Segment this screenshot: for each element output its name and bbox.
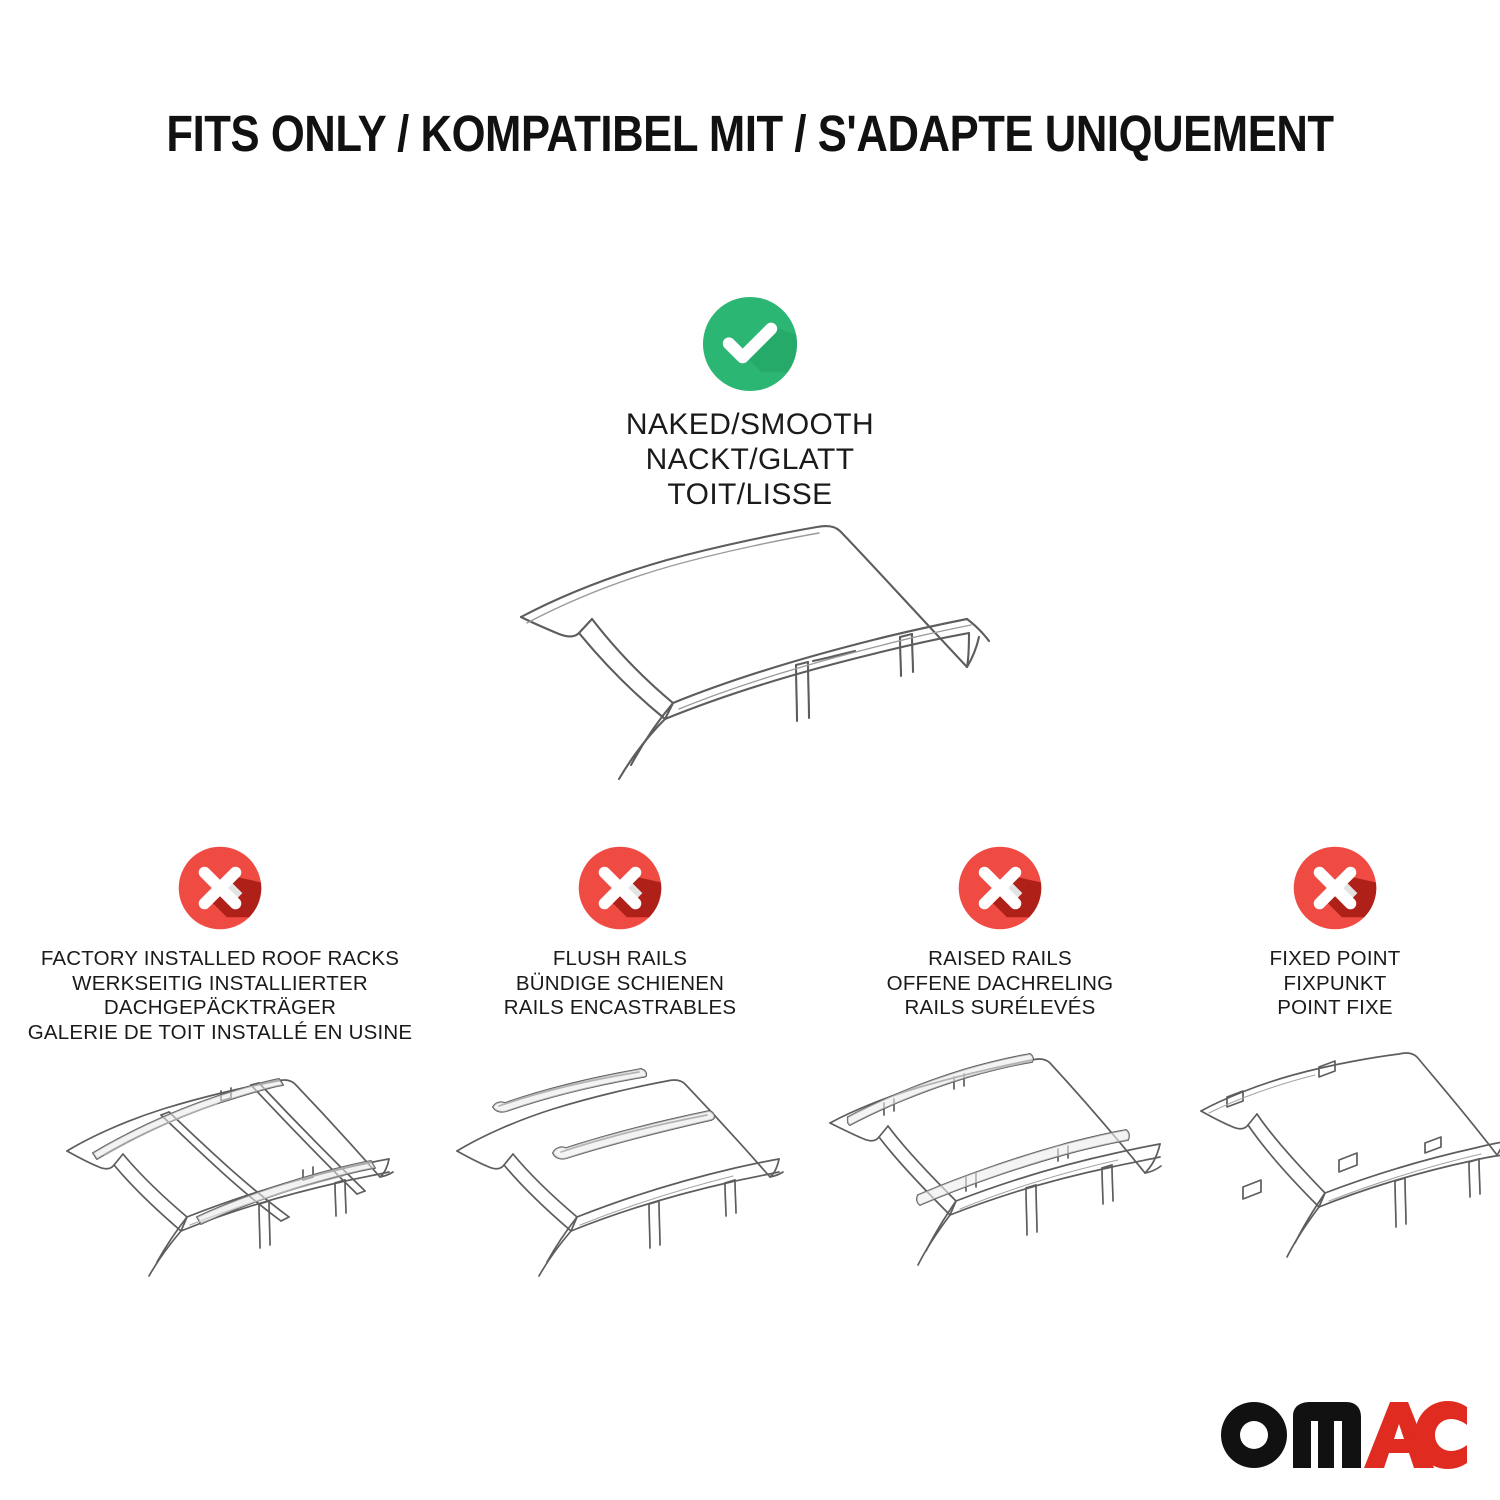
compatible-label-line-2: NACKT/GLATT	[450, 442, 1050, 477]
incompatible-item-flush-rails: FLUSH RAILS BÜNDIGE SCHIENEN RAILS ENCAS…	[440, 845, 800, 1021]
logo-text-om	[1221, 1402, 1361, 1468]
incompatible-label: FLUSH RAILS BÜNDIGE SCHIENEN RAILS ENCAS…	[440, 947, 800, 1021]
incompatible-label: FACTORY INSTALLED ROOF RACKS WERKSEITIG …	[20, 947, 420, 1045]
incompatible-label: RAISED RAILS OFFENE DACHRELING RAILS SUR…	[820, 947, 1180, 1021]
incompatible-label-line-1: FACTORY INSTALLED ROOF RACKS	[20, 947, 420, 972]
incompatible-item-raised-rails: RAISED RAILS OFFENE DACHRELING RAILS SUR…	[820, 845, 1180, 1021]
incompatible-label-line-1: RAISED RAILS	[820, 947, 1180, 972]
incompatible-label-line-2: BÜNDIGE SCHIENEN	[440, 972, 800, 997]
fitment-infographic: FITS ONLY / KOMPATIBEL MIT / S'ADAPTE UN…	[0, 0, 1500, 1500]
incompatible-label: FIXED POINT FIXPUNKT POINT FIXE	[1185, 947, 1485, 1021]
x-circle-icon	[1292, 845, 1378, 931]
x-circle-icon	[177, 845, 263, 931]
incompatible-item-fixed-point: FIXED POINT FIXPUNKT POINT FIXE	[1185, 845, 1485, 1021]
logo-text-ac	[1364, 1401, 1467, 1469]
check-circle-icon	[701, 295, 799, 393]
incompatible-label-line-2: WERKSEITIG INSTALLIERTER	[20, 972, 420, 997]
compatible-label-line-3: TOIT/LISSE	[450, 477, 1050, 512]
car-roof-factory-rack-illustration	[45, 1055, 415, 1285]
omac-logo	[1218, 1398, 1468, 1472]
incompatible-label-line-2: FIXPUNKT	[1185, 972, 1485, 997]
car-roof-fixed-point-illustration	[1185, 1055, 1500, 1285]
compatible-label-line-1: NAKED/SMOOTH	[450, 407, 1050, 442]
car-roof-flush-rails-illustration	[435, 1055, 805, 1285]
compatible-label: NAKED/SMOOTH NACKT/GLATT TOIT/LISSE	[450, 407, 1050, 512]
incompatible-label-line-3: POINT FIXE	[1185, 996, 1485, 1021]
car-roof-raised-rails-illustration	[820, 1055, 1190, 1285]
incompatible-label-line-3: RAILS ENCASTRABLES	[440, 996, 800, 1021]
incompatible-illustrations	[0, 1055, 1500, 1305]
x-circle-icon	[577, 845, 663, 931]
car-roof-naked-smooth-illustration	[497, 513, 1017, 788]
page-title: FITS ONLY / KOMPATIBEL MIT / S'ADAPTE UN…	[109, 104, 1392, 163]
incompatible-label-line-3: RAILS SURÉLEVÉS	[820, 996, 1180, 1021]
incompatible-item-factory-installed-roof-racks: FACTORY INSTALLED ROOF RACKS WERKSEITIG …	[20, 845, 420, 1045]
incompatible-label-line-2: OFFENE DACHRELING	[820, 972, 1180, 997]
incompatible-label-line-3: DACHGEPÄCKTRÄGER	[20, 996, 420, 1021]
compatible-section: NAKED/SMOOTH NACKT/GLATT TOIT/LISSE	[0, 295, 1500, 512]
incompatible-label-line-4: GALERIE DE TOIT INSTALLÉ EN USINE	[20, 1021, 420, 1046]
incompatible-label-line-1: FLUSH RAILS	[440, 947, 800, 972]
x-circle-icon	[957, 845, 1043, 931]
incompatible-label-line-1: FIXED POINT	[1185, 947, 1485, 972]
